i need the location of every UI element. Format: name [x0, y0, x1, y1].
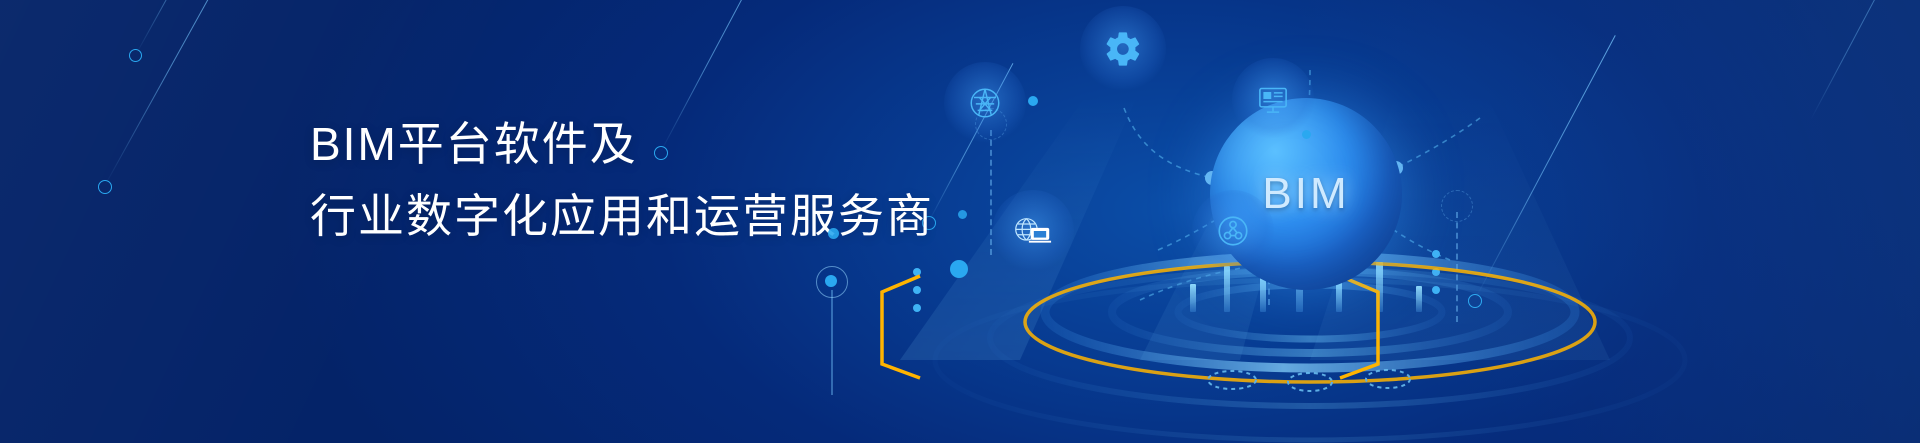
data-bar [1416, 286, 1422, 312]
data-bar [1260, 278, 1266, 312]
data-bar [1190, 284, 1196, 312]
stem-ring-far-right [1441, 190, 1473, 222]
orbit-dot-a [1028, 96, 1038, 106]
orbit-dot-c [958, 210, 967, 219]
data-bar [1224, 266, 1230, 312]
orbit-dot-b [1302, 130, 1311, 139]
decor-dot-1 [129, 49, 142, 62]
hero-banner: BIM平台软件及 行业数字化应用和运营服务商 [0, 0, 1920, 443]
gear-icon [1080, 6, 1166, 92]
accent-dot-left [950, 260, 968, 278]
bracket-right [1332, 272, 1392, 382]
globe-laptop-icon [992, 190, 1074, 272]
stem-dashed-far-right [1456, 212, 1458, 322]
decor-line-2 [104, 0, 265, 186]
bim-illustration: BIM [840, 0, 1920, 443]
monitor-icon [1232, 58, 1314, 140]
power-tower-icon [944, 62, 1026, 144]
stem-solid-mid [831, 290, 833, 395]
accent-dot-small [828, 228, 839, 239]
bracket-left [868, 272, 928, 382]
decor-dot-2 [98, 180, 112, 194]
share-network-icon [1192, 190, 1274, 272]
stem-ring-mid-core [825, 275, 837, 287]
